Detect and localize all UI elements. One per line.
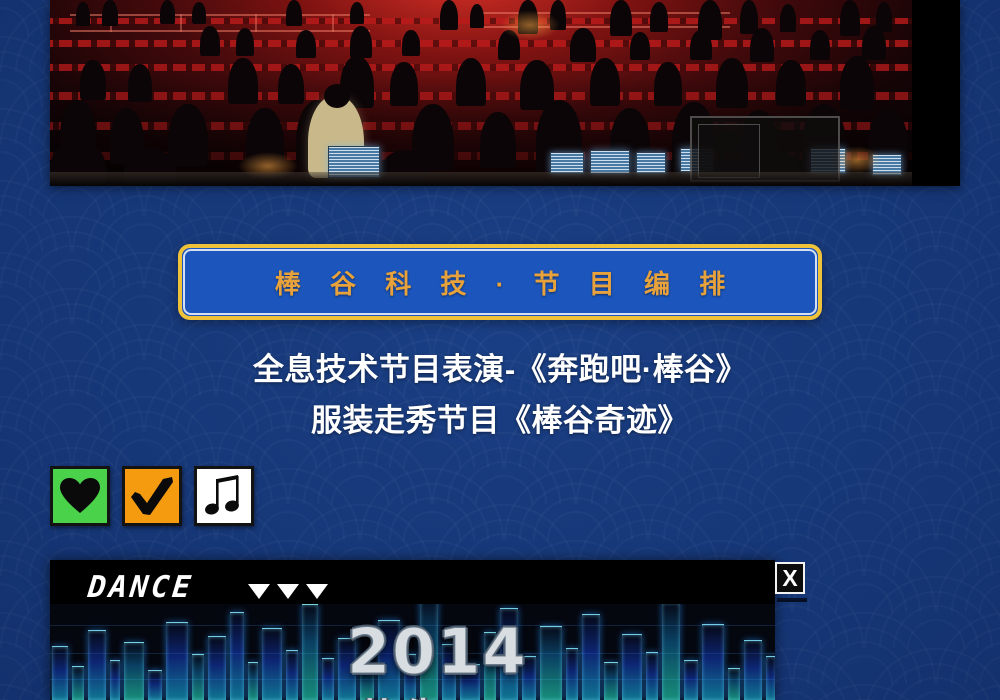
music-note-icon-button[interactable] — [194, 466, 254, 526]
photo-black-band — [912, 0, 960, 186]
triangle-down-icon — [248, 584, 270, 599]
music-note-icon — [204, 475, 244, 517]
program-line-2: 服装走秀节目《棒谷奇迹》 — [0, 395, 1000, 446]
video-preview-panel[interactable]: DANCE 2014 共生 — [50, 560, 775, 700]
control-monitor — [590, 150, 630, 174]
close-button-group[interactable]: X — [775, 562, 809, 598]
heart-icon-button[interactable] — [50, 466, 110, 526]
program-list: 全息技术节目表演-《奔跑吧·棒谷》 服装走秀节目《棒谷奇迹》 — [0, 344, 1000, 446]
floor-strip — [50, 172, 960, 186]
photo-content — [50, 0, 960, 186]
icon-row — [50, 466, 254, 526]
triangle-down-icon — [306, 584, 328, 599]
control-monitor — [636, 152, 666, 174]
year-subtitle: 共生 — [357, 686, 449, 700]
close-button-shadow — [777, 598, 807, 602]
dance-arrow-group — [248, 584, 328, 599]
triangle-down-icon — [277, 584, 299, 599]
program-line-1: 全息技术节目表演-《奔跑吧·棒谷》 — [0, 344, 1000, 395]
checkmark-icon-button[interactable] — [122, 466, 182, 526]
auditorium-photo — [50, 0, 960, 186]
section-title-banner: 棒 谷 科 技 · 节 目 编 排 — [178, 244, 822, 320]
section-title-text: 棒 谷 科 技 · 节 目 编 排 — [264, 264, 736, 301]
year-text: 2014 — [347, 615, 528, 688]
heart-icon — [60, 478, 100, 514]
checkmark-icon — [130, 476, 174, 516]
dance-label: DANCE — [86, 570, 195, 605]
control-monitor — [550, 152, 584, 174]
close-icon[interactable]: X — [775, 562, 805, 594]
